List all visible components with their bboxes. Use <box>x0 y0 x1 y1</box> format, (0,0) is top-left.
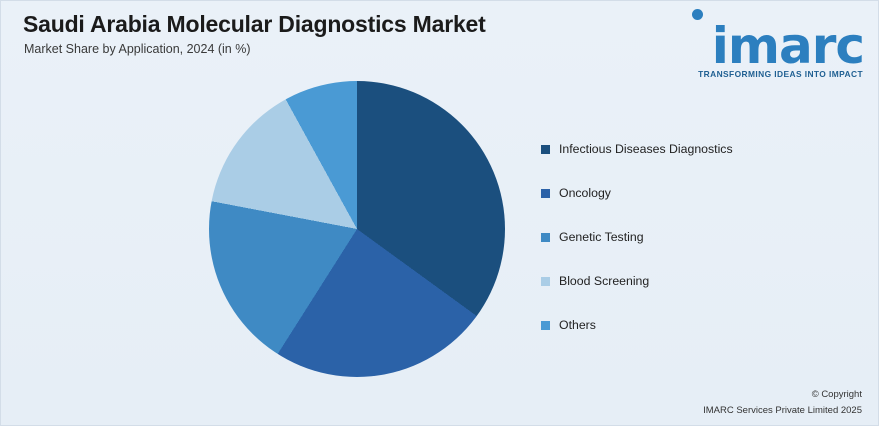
legend-swatch-icon <box>541 145 550 154</box>
legend-swatch-icon <box>541 321 550 330</box>
pie-slices <box>209 81 505 377</box>
logo-dot-icon <box>692 9 703 20</box>
legend-swatch-icon <box>541 277 550 286</box>
legend-item: Infectious Diseases Diagnostics <box>541 127 861 171</box>
logo-wordmark: imarc <box>712 21 864 71</box>
legend-swatch-icon <box>541 233 550 242</box>
legend-label: Genetic Testing <box>559 230 644 244</box>
legend-label: Infectious Diseases Diagnostics <box>559 142 733 156</box>
page-subtitle: Market Share by Application, 2024 (in %) <box>24 42 251 56</box>
copyright-text: © Copyright <box>812 389 862 400</box>
legend-label: Blood Screening <box>559 274 649 288</box>
legend-item: Others <box>541 303 861 347</box>
pie-chart <box>209 81 505 377</box>
legend-item: Genetic Testing <box>541 215 861 259</box>
imarc-logo: imarc TRANSFORMING IDEAS INTO IMPACT <box>674 9 864 75</box>
logo-tagline: TRANSFORMING IDEAS INTO IMPACT <box>698 69 863 79</box>
company-text: IMARC Services Private Limited 2025 <box>703 405 862 416</box>
legend-label: Others <box>559 318 596 332</box>
chart-legend: Infectious Diseases DiagnosticsOncologyG… <box>541 127 861 347</box>
legend-item: Oncology <box>541 171 861 215</box>
chart-page: Saudi Arabia Molecular Diagnostics Marke… <box>0 0 879 426</box>
legend-item: Blood Screening <box>541 259 861 303</box>
page-title: Saudi Arabia Molecular Diagnostics Marke… <box>23 11 486 38</box>
legend-swatch-icon <box>541 189 550 198</box>
legend-label: Oncology <box>559 186 611 200</box>
